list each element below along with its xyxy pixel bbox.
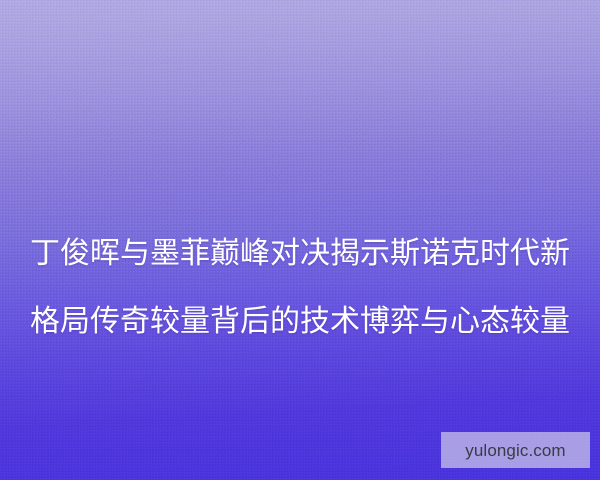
watermark-badge: yulongic.com	[441, 432, 590, 468]
cover-image: 丁俊晖与墨菲巅峰对决揭示斯诺克时代新 格局传奇较量背后的技术博弈与心态较量 yu…	[0, 0, 600, 480]
headline-line-1: 丁俊晖与墨菲巅峰对决揭示斯诺克时代新	[30, 237, 570, 270]
page-title: 丁俊晖与墨菲巅峰对决揭示斯诺克时代新 格局传奇较量背后的技术博弈与心态较量	[30, 203, 575, 339]
watermark-label: yulongic.com	[465, 442, 565, 459]
headline-line-2: 格局传奇较量背后的技术博弈与心态较量	[30, 305, 570, 338]
